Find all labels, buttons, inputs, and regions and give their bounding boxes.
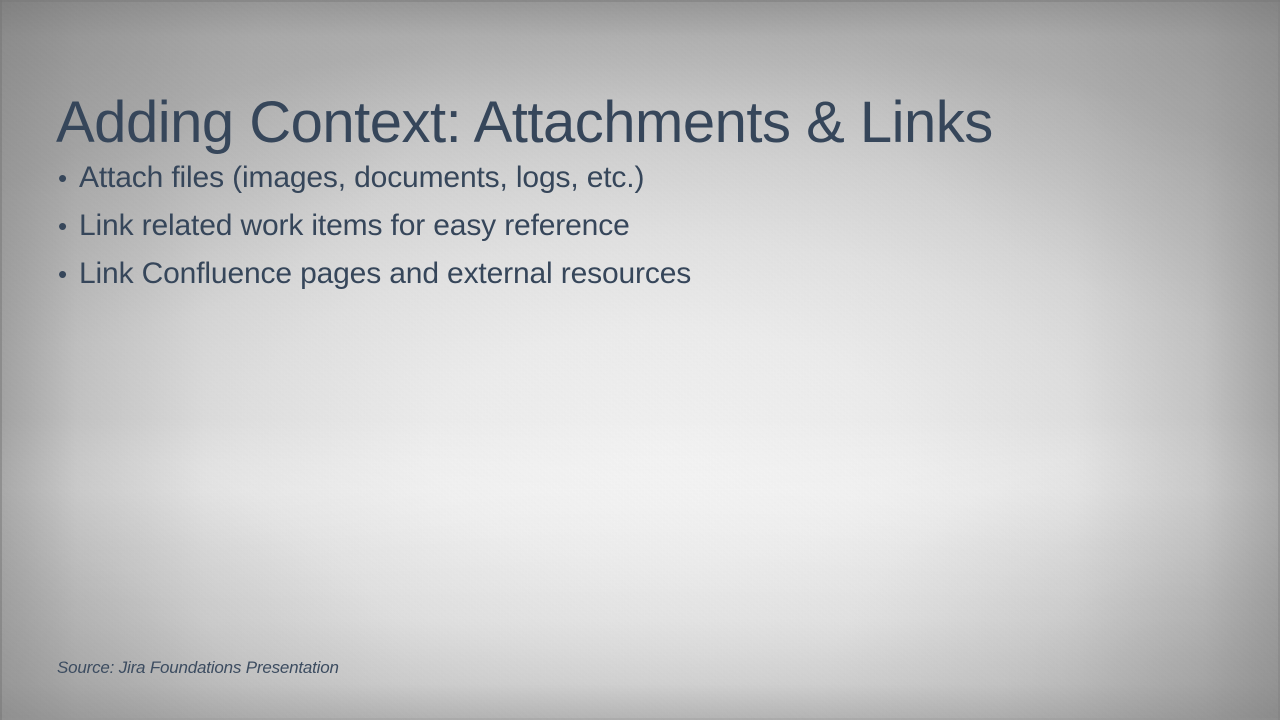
bullet-item-label: Link related work items for easy referen… — [79, 202, 630, 250]
presentation-slide: Adding Context: Attachments & Links • At… — [0, 0, 1280, 720]
slide-title: Adding Context: Attachments & Links — [56, 92, 1216, 155]
bullet-point-icon: • — [58, 154, 79, 202]
bullet-item-link-confluence: • Link Confluence pages and external res… — [58, 250, 1158, 298]
slide-content: Adding Context: Attachments & Links • At… — [0, 0, 1280, 720]
bullet-point-icon: • — [58, 250, 79, 298]
bullet-item-attach-files: • Attach files (images, documents, logs,… — [58, 154, 1158, 202]
source-attribution: Source: Jira Foundations Presentation — [57, 656, 339, 680]
bullet-item-label: Link Confluence pages and external resou… — [79, 250, 691, 298]
bullet-item-label: Attach files (images, documents, logs, e… — [79, 154, 644, 202]
bullet-list: • Attach files (images, documents, logs,… — [58, 154, 1158, 298]
bullet-point-icon: • — [58, 202, 79, 250]
bullet-item-link-work-items: • Link related work items for easy refer… — [58, 202, 1158, 250]
